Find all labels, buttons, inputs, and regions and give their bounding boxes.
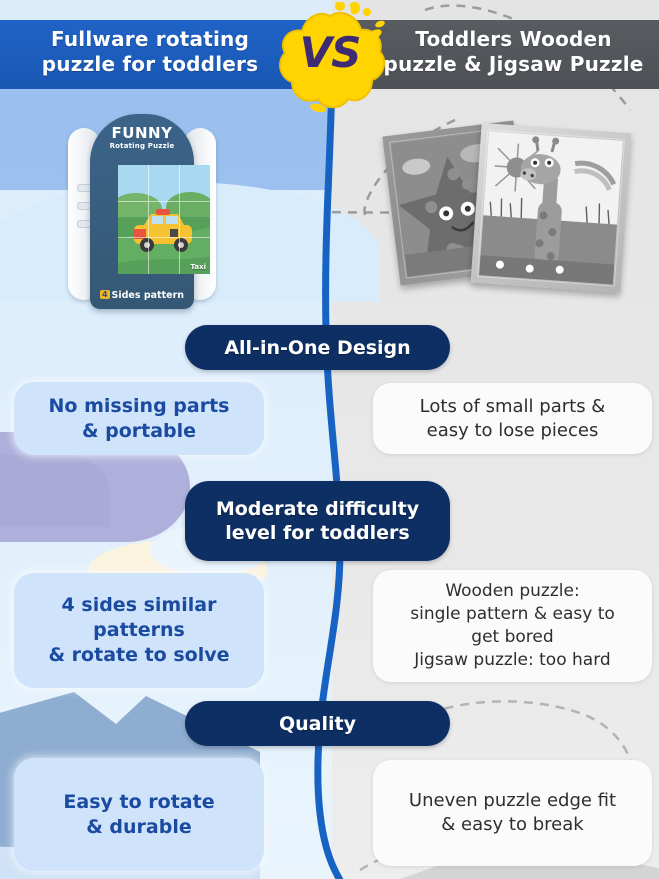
device-logo-line1: FUNNY	[90, 126, 194, 141]
con-bubble-3: Uneven puzzle edge fit & easy to break	[373, 760, 652, 866]
con-bubble-2: Wooden puzzle: single pattern & easy to …	[373, 570, 652, 682]
con-bubble-1: Lots of small parts & easy to lose piece…	[373, 383, 652, 454]
wooden-puzzle-giraffe-image	[471, 123, 632, 293]
sides-count-badge: 4	[100, 290, 110, 299]
header-right-title: Toddlers Wooden puzzle & Jigsaw Puzzle	[372, 27, 655, 77]
device-footer: 4Sides pattern	[90, 290, 194, 301]
left-background-blob-lavender-2	[0, 455, 110, 527]
giraffe-illustration	[471, 123, 632, 293]
pro-bubble-3: Easy to rotate & durable	[14, 758, 264, 871]
device-logo: FUNNY Rotating Puzzle	[90, 126, 194, 152]
vs-label: VS	[272, 28, 388, 77]
device-body: FUNNY Rotating Puzzle	[90, 114, 194, 309]
comparison-title-2: Moderate difficulty level for toddlers	[185, 481, 450, 561]
vs-badge: VS	[272, 2, 388, 112]
product-device-image: FUNNY Rotating Puzzle	[68, 114, 216, 309]
device-logo-line2: Rotating Puzzle	[90, 141, 194, 152]
comparison-title-1: All-in-One Design	[185, 325, 450, 370]
device-footer-text: Sides pattern	[112, 290, 185, 301]
infographic-canvas: Fullware rotating puzzle for toddlers To…	[0, 0, 659, 879]
pro-bubble-2: 4 sides similar patterns & rotate to sol…	[14, 573, 264, 688]
screen-caption: Taxi	[190, 263, 206, 271]
pro-bubble-1: No missing parts & portable	[14, 382, 264, 455]
comparison-title-3: Quality	[185, 701, 450, 746]
device-screen: Taxi	[118, 165, 210, 274]
header-left-title: Fullware rotating puzzle for toddlers	[8, 27, 292, 77]
puzzle-grid-overlay	[118, 165, 210, 274]
